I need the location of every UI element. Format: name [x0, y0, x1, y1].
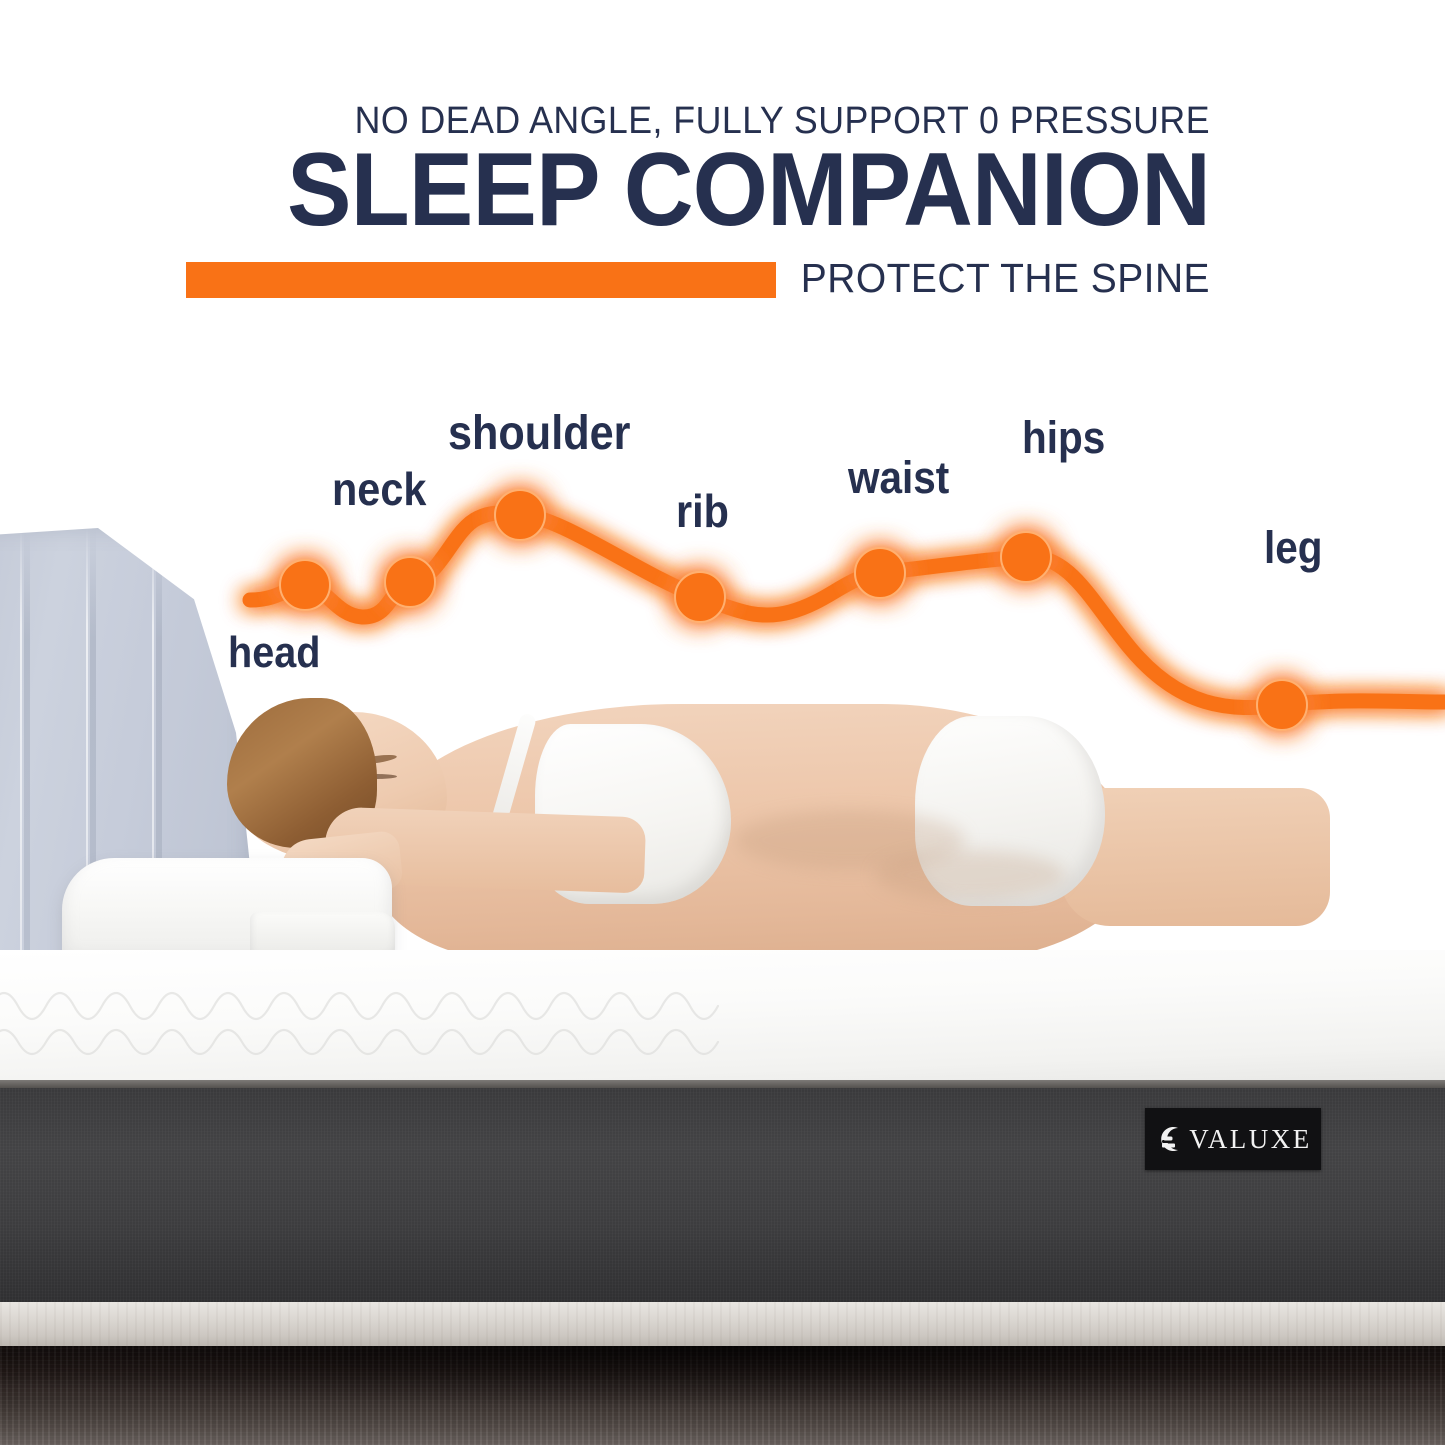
- zone-label-head: head: [228, 628, 320, 678]
- headline-block: NO DEAD ANGLE, FULLY SUPPORT 0 PRESSURE …: [0, 0, 1445, 320]
- bed-frame-rail: [0, 1302, 1445, 1348]
- zone-label-rib: rib: [676, 484, 729, 538]
- brand-name: VALUXE: [1189, 1126, 1312, 1153]
- brand-logo-tag: VALUXE: [1145, 1108, 1321, 1170]
- curve-marker-head: [280, 560, 330, 610]
- mattress-quilted-top: [0, 950, 1445, 1088]
- zone-label-hips: hips: [1022, 412, 1105, 464]
- curve-marker-leg: [1257, 680, 1307, 730]
- zone-label-shoulder: shoulder: [448, 406, 630, 461]
- zone-label-neck: neck: [332, 462, 426, 516]
- product-infographic: VALUXE NO DEAD ANGLE, FULLY SUPPORT 0 PR…: [0, 0, 1445, 1445]
- curve-marker-rib: [675, 572, 725, 622]
- quilt-pattern: [0, 950, 1445, 1088]
- curve-marker-shoulder: [495, 490, 545, 540]
- moon-bed-icon: [1154, 1124, 1184, 1154]
- curve-marker-waist: [855, 548, 905, 598]
- under-bed-shadow: [0, 1346, 1445, 1406]
- pressure-curve-chart: headneckshoulderribwaisthipsleg: [0, 330, 1445, 790]
- zone-label-leg: leg: [1264, 522, 1323, 574]
- page-title: SLEEP COMPANION: [85, 138, 1210, 242]
- pressure-curve-svg: [0, 330, 1445, 790]
- headline-subtitle: PROTECT THE SPINE: [61, 255, 1211, 302]
- curve-marker-neck: [385, 557, 435, 607]
- curve-marker-hips: [1001, 532, 1051, 582]
- zone-label-waist: waist: [848, 452, 949, 504]
